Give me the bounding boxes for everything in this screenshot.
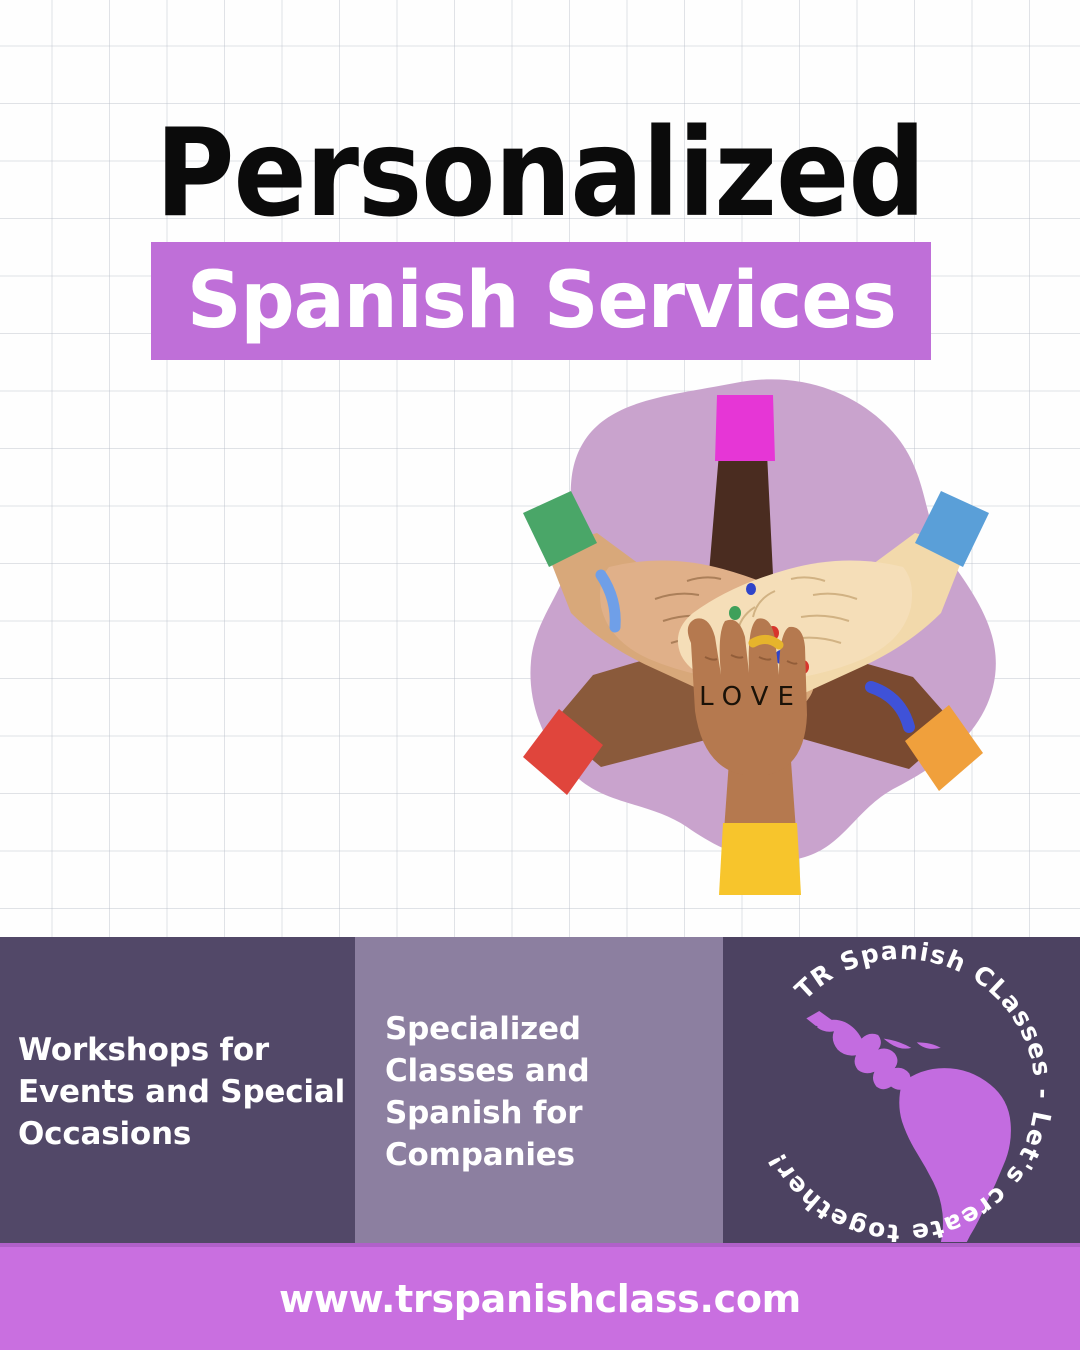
panel-specialized-classes-text: Specialized Classes and Spanish for Comp… <box>385 1008 713 1176</box>
panel-workshops[interactable]: Workshops for Events and Special Occasio… <box>0 937 355 1247</box>
website-url-link[interactable]: www.trspanishclass.com <box>279 1277 801 1321</box>
service-panels: Workshops for Events and Special Occasio… <box>0 937 1080 1247</box>
page-title-line1: Personalized <box>0 112 1080 237</box>
stacked-hands-illustration: LOVE <box>505 375 1005 920</box>
panel-workshops-text: Workshops for Events and Special Occasio… <box>18 1029 345 1155</box>
page-title-line2: Spanish Services <box>187 261 896 341</box>
footer-bar: www.trspanishclass.com <box>0 1247 1080 1350</box>
poster-canvas: Personalized Spanish Services <box>0 0 1080 1350</box>
panel-specialized-classes[interactable]: Specialized Classes and Spanish for Comp… <box>355 937 723 1247</box>
title-banner: Spanish Services <box>151 242 931 360</box>
brand-logo: TR Spanish CLasses - Let's create togeth… <box>737 942 1067 1242</box>
palm-love-text: LOVE <box>699 682 803 712</box>
hand-bottom-sleeve <box>719 823 801 895</box>
panel-logo[interactable]: TR Spanish CLasses - Let's create togeth… <box>723 937 1080 1247</box>
hand-top-sleeve <box>715 395 775 461</box>
